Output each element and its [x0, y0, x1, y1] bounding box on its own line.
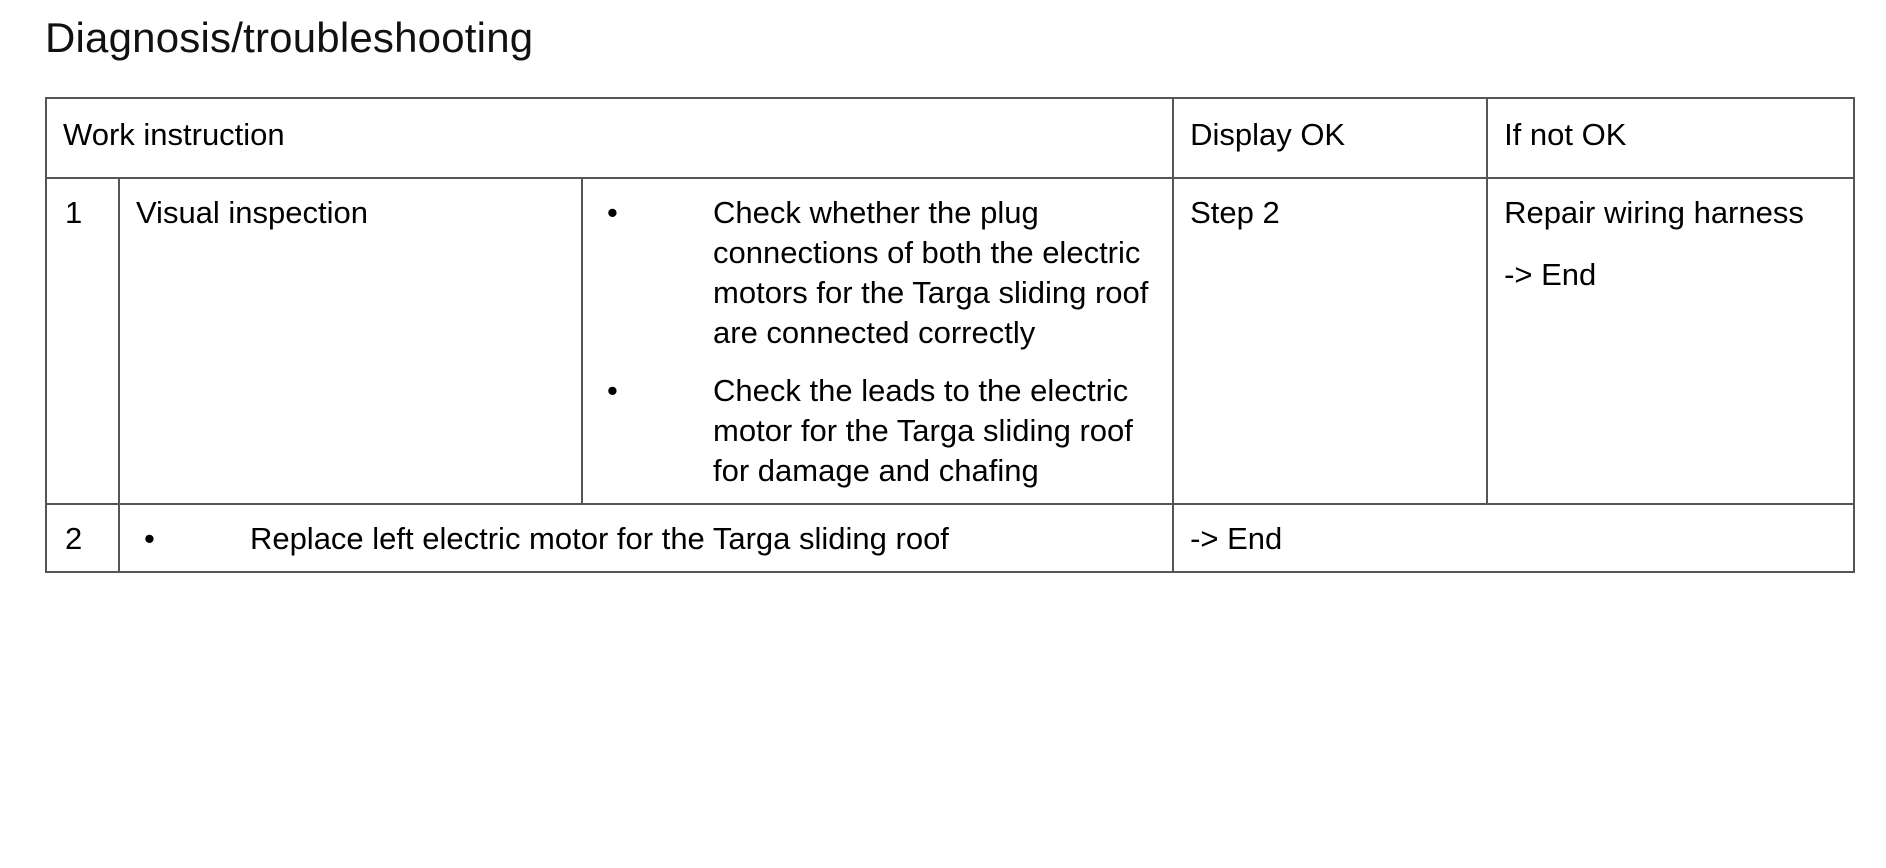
diagnosis-table-container: Work instruction Display OK If not OK 1 [45, 97, 1855, 573]
header-cell-work-instruction: Work instruction [46, 98, 1173, 178]
list-item: • Replace left electric motor for the Ta… [136, 519, 1158, 559]
step-task-1: Visual inspection [120, 179, 581, 245]
header-label-work-instruction: Work instruction [47, 99, 1172, 177]
list-item: • Check whether the plug connections of … [599, 193, 1158, 353]
bullet-icon: • [607, 371, 618, 411]
step-if-not-ok-1-line2: -> End [1504, 255, 1839, 295]
table-row: 1 Visual inspection • Check whether the … [46, 178, 1854, 504]
header-cell-display-ok: Display OK [1173, 98, 1487, 178]
page-title: Diagnosis/troubleshooting [45, 12, 533, 64]
table-row: 2 • Replace left electric motor for the … [46, 504, 1854, 572]
step-number-1: 1 [47, 179, 118, 245]
check-list-1: • Check whether the plug connections of … [599, 193, 1158, 491]
step-if-not-ok-cell-1: Repair wiring harness -> End [1487, 178, 1854, 504]
step-number-cell-2: 2 [46, 504, 119, 572]
action-text-2: Replace left electric motor for the Targ… [250, 521, 949, 556]
header-cell-if-not-ok: If not OK [1487, 98, 1854, 178]
step-result-2: -> End [1174, 505, 1853, 571]
step-if-not-ok-1-line1: Repair wiring harness [1504, 193, 1839, 233]
diagnosis-table: Work instruction Display OK If not OK 1 [45, 97, 1855, 573]
header-label-display-ok: Display OK [1174, 99, 1486, 177]
step-number-2: 2 [47, 505, 118, 571]
list-item: • Check the leads to the electric motor … [599, 371, 1158, 491]
check-text-1-1: Check whether the plug connections of bo… [713, 195, 1148, 350]
bullet-icon: • [607, 193, 618, 233]
step-number-cell-1: 1 [46, 178, 119, 504]
slide-root: Diagnosis/troubleshooting Work instructi… [0, 0, 1886, 868]
step-display-ok-cell-1: Step 2 [1173, 178, 1487, 504]
step-display-ok-1: Step 2 [1174, 179, 1486, 245]
check-text-1-2: Check the leads to the electric motor fo… [713, 373, 1133, 488]
step-checks-cell-1: • Check whether the plug connections of … [582, 178, 1173, 504]
step-action-cell-2: • Replace left electric motor for the Ta… [119, 504, 1173, 572]
step-result-cell-2: -> End [1173, 504, 1854, 572]
table-header-row: Work instruction Display OK If not OK [46, 98, 1854, 178]
step-task-cell-1: Visual inspection [119, 178, 582, 504]
bullet-icon: • [144, 519, 155, 559]
header-label-if-not-ok: If not OK [1488, 99, 1853, 177]
action-list-2: • Replace left electric motor for the Ta… [136, 519, 1158, 559]
